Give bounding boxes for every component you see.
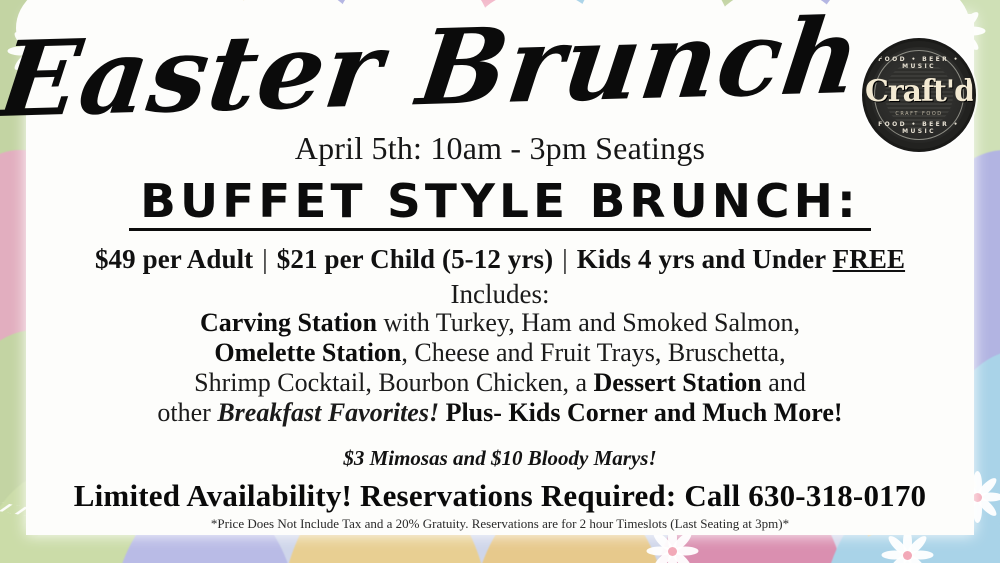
menu-line-lead: Shrimp Cocktail, Bourbon Chicken, a xyxy=(194,368,593,397)
menu-line-rest: and xyxy=(762,368,806,397)
menu-line-rest: , Cheese and Fruit Trays, Bruschetta, xyxy=(401,338,785,367)
logo-tagline: CRAFT FOOD xyxy=(865,111,973,117)
menu-station-name: Omelette Station xyxy=(214,338,401,367)
menu-line-emphasis: Breakfast Favorites! xyxy=(217,398,439,427)
menu-station-name: Dessert Station xyxy=(594,368,762,397)
drink-specials-line: $3 Mimosas and $10 Bloody Marys! xyxy=(0,446,1000,471)
menu-line-lead: other xyxy=(157,398,217,427)
price-separator: | xyxy=(253,244,277,274)
heading-underline xyxy=(129,228,871,231)
reservation-line[interactable]: Limited Availability! Reservations Requi… xyxy=(0,478,1000,514)
menu-line-tail: Plus- Kids Corner and Much More! xyxy=(439,398,842,427)
buffet-heading-wrap: BUFFET STYLE BRUNCH: xyxy=(0,178,1000,231)
menu-station-name: Carving Station xyxy=(200,308,377,337)
price-kids-free-prefix: Kids 4 yrs and Under xyxy=(577,244,833,274)
logo-brand-name: Craft'd xyxy=(865,77,973,107)
menu-line-rest: with Turkey, Ham and Smoked Salmon, xyxy=(377,308,800,337)
price-kids-free: FREE xyxy=(833,244,905,274)
price-child: $21 per Child (5-12 yrs) xyxy=(277,244,553,274)
menu-line: Omelette Station, Cheese and Fruit Trays… xyxy=(0,338,1000,368)
price-adult: $49 per Adult xyxy=(95,244,253,274)
menu-line: Carving Station with Turkey, Ham and Smo… xyxy=(0,308,1000,338)
fine-print: *Price Does Not Include Tax and a 20% Gr… xyxy=(0,516,1000,532)
pricing-line: $49 per Adult|$21 per Child (5-12 yrs)|K… xyxy=(0,244,1000,275)
includes-label: Includes: xyxy=(0,279,1000,310)
easter-brunch-flyer: Easter Brunch FOOD • BEER • MUSIC Craft'… xyxy=(0,0,1000,563)
date-line: April 5th: 10am - 3pm Seatings xyxy=(0,130,1000,167)
section-heading: BUFFET STYLE BRUNCH: xyxy=(35,178,965,226)
menu-line: other Breakfast Favorites! Plus- Kids Co… xyxy=(0,398,1000,428)
logo-arc-top: FOOD • BEER • MUSIC xyxy=(865,56,973,70)
price-separator: | xyxy=(553,244,577,274)
flyer-content: Easter Brunch FOOD • BEER • MUSIC Craft'… xyxy=(0,0,1000,563)
menu-list: Carving Station with Turkey, Ham and Smo… xyxy=(0,308,1000,428)
menu-line: Shrimp Cocktail, Bourbon Chicken, a Dess… xyxy=(0,368,1000,398)
page-title: Easter Brunch xyxy=(0,4,869,132)
